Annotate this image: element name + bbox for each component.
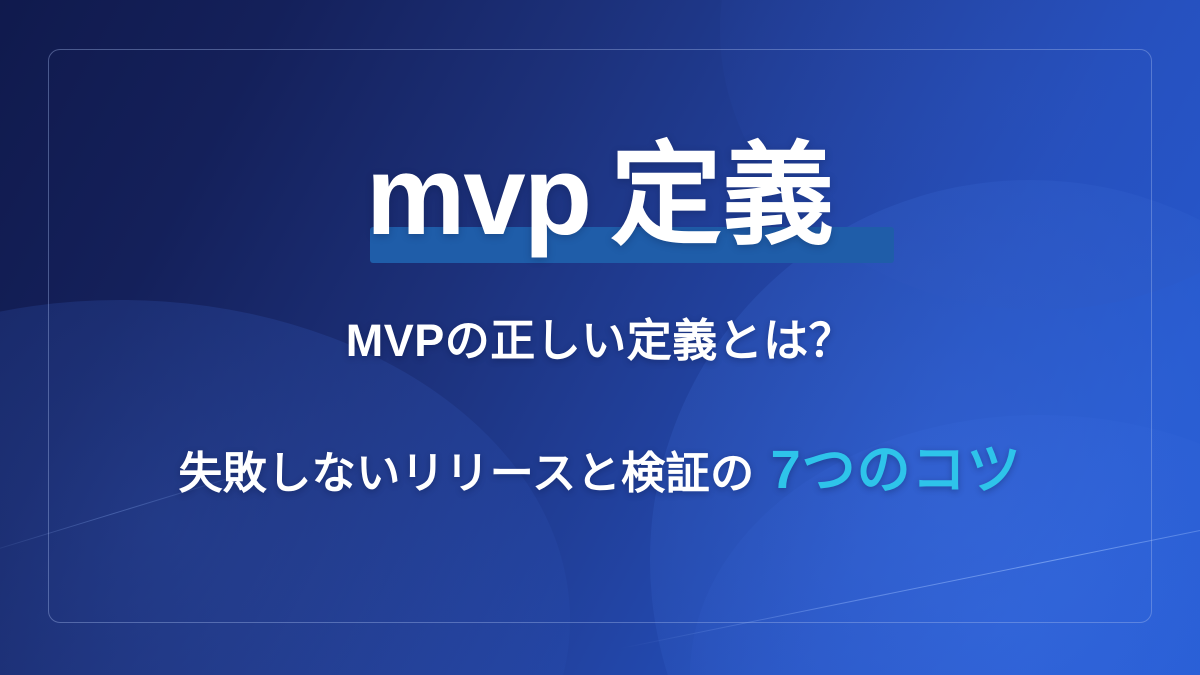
banner-title-block: mvp定義	[362, 130, 838, 262]
banner-title: mvp定義	[366, 130, 834, 262]
banner-title-latin: mvp	[366, 133, 590, 258]
banner-content: mvp定義 MVPの正しい定義とは？ 失敗しないリリースと検証の 7つのコツ	[0, 0, 1200, 675]
banner-tagline-accent: 7つのコツ	[771, 425, 1022, 504]
banner-canvas: mvp定義 MVPの正しい定義とは？ 失敗しないリリースと検証の 7つのコツ	[0, 0, 1200, 675]
banner-subtitle: MVPの正しい定義とは？	[346, 304, 855, 369]
banner-tagline: 失敗しないリリースと検証の 7つのコツ	[178, 425, 1021, 504]
banner-title-japanese: 定義	[610, 133, 834, 258]
banner-tagline-lead: 失敗しないリリースと検証の	[178, 437, 754, 501]
